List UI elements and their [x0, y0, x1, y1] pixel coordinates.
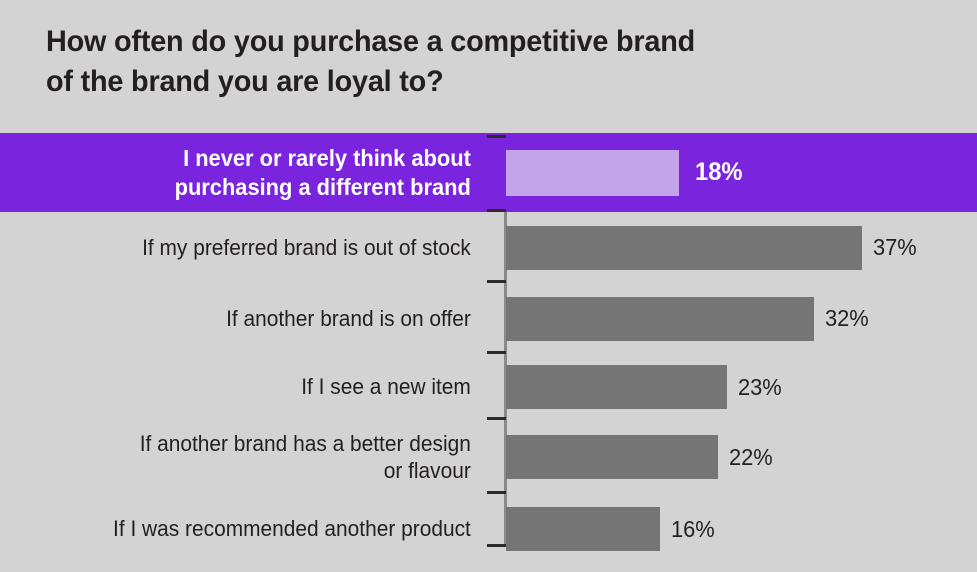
bar-track: 18% — [506, 150, 745, 196]
bar-track: 16% — [506, 507, 717, 551]
bar-row: If I was recommended another product16% — [0, 494, 977, 564]
bar-zone: 22% — [487, 420, 977, 494]
axis-tick — [487, 209, 506, 212]
category-label-line: If another brand is on offer — [24, 305, 471, 333]
bar-row: If I see a new item23% — [0, 354, 977, 420]
category-label-line: If I was recommended another product — [24, 515, 471, 543]
category-label-line: purchasing a different brand — [24, 173, 471, 201]
bar-row: If another brand has a better designor f… — [0, 420, 977, 494]
axis-tick — [487, 351, 506, 354]
bar-track: 37% — [506, 226, 919, 270]
bar — [506, 507, 660, 551]
category-label-line: If another brand has a better design — [24, 430, 471, 458]
bar-value-label: 18% — [695, 158, 743, 187]
bar-track: 32% — [506, 297, 871, 341]
bar — [506, 150, 679, 196]
page-title: How often do you purchase a competitive … — [46, 22, 891, 102]
bar-track: 22% — [506, 435, 775, 479]
page-title-line-1: How often do you purchase a competitive … — [46, 22, 891, 62]
bar-value-label: 22% — [729, 444, 773, 471]
category-label: If another brand is on offer — [24, 305, 487, 333]
category-label-line: If I see a new item — [24, 373, 471, 401]
bar-track: 23% — [506, 365, 784, 409]
category-label: I never or rarely think aboutpurchasing … — [24, 144, 487, 200]
category-label: If another brand has a better designor f… — [24, 430, 487, 485]
axis-tick — [487, 491, 506, 494]
bar-zone: 16% — [487, 494, 977, 564]
axis-tick — [487, 280, 506, 283]
category-label-line: or flavour — [24, 457, 471, 485]
axis-tick — [487, 544, 506, 547]
bar-value-label: 32% — [825, 305, 869, 332]
category-label: If I was recommended another product — [24, 515, 487, 543]
category-label-line: I never or rarely think about — [24, 144, 471, 172]
category-label: If my preferred brand is out of stock — [24, 234, 487, 262]
bar-zone: 37% — [487, 212, 977, 283]
bar-value-label: 37% — [873, 234, 917, 261]
category-label-line: If my preferred brand is out of stock — [24, 234, 471, 262]
bar-zone: 18% — [487, 133, 977, 212]
page-title-line-2: of the brand you are loyal to? — [46, 62, 891, 102]
bar — [506, 365, 727, 409]
bar-row: I never or rarely think aboutpurchasing … — [0, 133, 977, 212]
bar-value-label: 16% — [671, 516, 715, 543]
bar-zone: 23% — [487, 354, 977, 420]
bar — [506, 435, 718, 479]
axis-tick — [487, 417, 506, 420]
bar-chart-plot-area: I never or rarely think aboutpurchasing … — [0, 133, 977, 558]
bar-row: If my preferred brand is out of stock37% — [0, 212, 977, 283]
category-label: If I see a new item — [24, 373, 487, 401]
bar — [506, 226, 862, 270]
bar-row: If another brand is on offer32% — [0, 283, 977, 354]
bar-value-label: 23% — [738, 374, 782, 401]
axis-tick — [487, 135, 506, 138]
bar — [506, 297, 814, 341]
bar-zone: 32% — [487, 283, 977, 354]
